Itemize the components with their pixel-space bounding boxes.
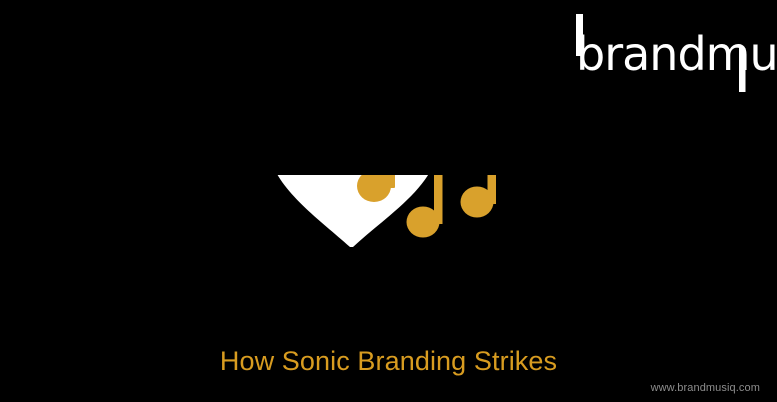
title-line-1: How Sonic Branding Strikes [0,344,777,378]
brandmusiq-logo-svg: brandmusiq [557,0,777,100]
promo-banner: brandmusiq [0,0,777,402]
brandmusiq-logo[interactable]: brandmusiq [557,0,777,100]
website-url[interactable]: www.brandmusiq.com [651,382,760,394]
wordmark-text: brandmusiq [576,27,777,81]
